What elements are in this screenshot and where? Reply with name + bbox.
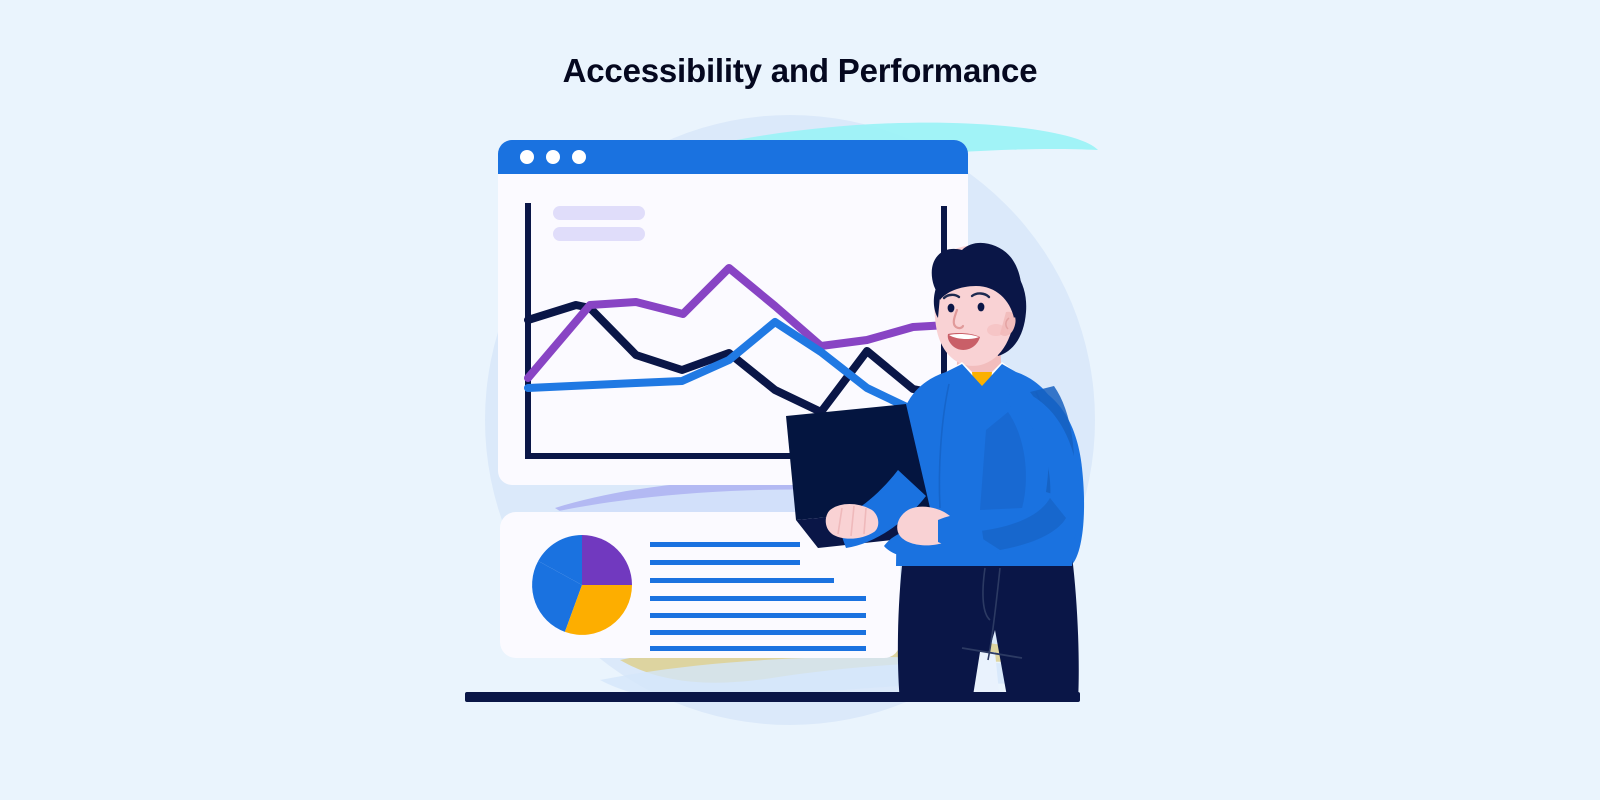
hero-illustration xyxy=(0,0,1600,800)
close-dot[interactable] xyxy=(520,150,534,164)
minimize-dot[interactable] xyxy=(546,150,560,164)
title-placeholder-bar xyxy=(553,206,645,220)
cuff-right xyxy=(938,514,984,547)
subtitle-placeholder-bar xyxy=(553,227,645,241)
pie-chart[interactable] xyxy=(532,535,632,635)
illustration-stage: Accessibility and Performance xyxy=(0,0,1600,800)
traffic-lights[interactable] xyxy=(520,150,586,164)
text-line-2 xyxy=(650,560,800,565)
text-line-5 xyxy=(650,613,866,618)
maximize-dot[interactable] xyxy=(572,150,586,164)
text-line-7 xyxy=(650,646,866,651)
browser-title-bar xyxy=(498,140,968,174)
text-line-1 xyxy=(650,542,800,547)
text-line-6 xyxy=(650,630,866,635)
ground-bar xyxy=(465,692,1080,702)
scene-svg xyxy=(0,0,1600,800)
text-line-4 xyxy=(650,596,866,601)
eye-left xyxy=(948,304,955,313)
text-line-3 xyxy=(650,578,834,583)
cheek-blush xyxy=(987,324,1005,336)
eye-right xyxy=(978,303,985,312)
